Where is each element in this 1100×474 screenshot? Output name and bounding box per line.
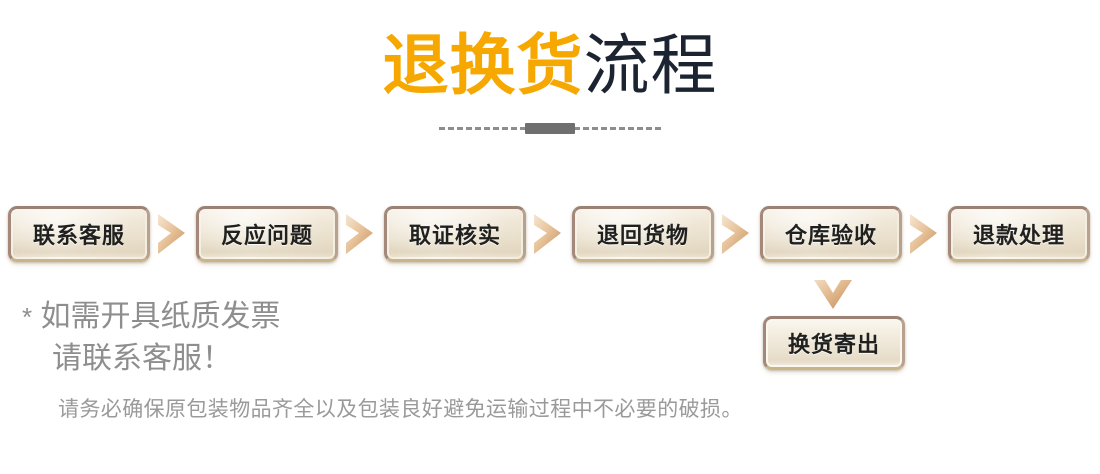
chevron-right-icon-2 xyxy=(338,211,384,257)
packaging-note: 请务必确保原包装物品齐全以及包装良好避免运输过程中不必要的破损。 xyxy=(58,395,1058,425)
flow-branch-box-exchange[interactable]: 换货寄出 xyxy=(763,316,905,370)
chevron-right-icon-4 xyxy=(714,211,760,257)
chevron-down-icon-branch xyxy=(812,278,854,314)
flow-step-box-1[interactable]: 联系客服 xyxy=(8,206,150,262)
flow-step-label-6: 退款处理 xyxy=(973,218,1065,250)
flow-branch-label-exchange: 换货寄出 xyxy=(788,327,880,359)
flow-steps-row: 联系客服 反应问题 xyxy=(8,203,1092,265)
flow-step-box-4[interactable]: 退回货物 xyxy=(572,206,714,262)
flow-step-label-2: 反应问题 xyxy=(221,218,313,250)
invoice-note-line-1: * 如需开具纸质发票 xyxy=(22,296,442,338)
chevron-right-icon-3 xyxy=(526,211,572,257)
flow-step-label-3: 取证核实 xyxy=(409,218,501,250)
page-title-accent: 退换货 xyxy=(383,28,584,102)
invoice-note-text-2: 请联系客服！ xyxy=(22,338,442,380)
flow-step-label-1: 联系客服 xyxy=(33,218,125,250)
invoice-note-text-1: 如需开具纸质发票 xyxy=(40,300,280,333)
flow-step-label-4: 退回货物 xyxy=(597,218,689,250)
title-divider xyxy=(0,122,1100,136)
flow-step-label-5: 仓库验收 xyxy=(785,218,877,250)
invoice-note: * 如需开具纸质发票 请联系客服！ xyxy=(22,296,442,380)
flow-step-box-3[interactable]: 取证核实 xyxy=(384,206,526,262)
divider-center-block xyxy=(525,123,575,134)
flow-step-box-5[interactable]: 仓库验收 xyxy=(760,206,902,262)
chevron-right-icon-5 xyxy=(902,211,948,257)
page-title: 退换货流程 xyxy=(0,26,1100,104)
chevron-right-icon-1 xyxy=(150,211,196,257)
page-title-rest: 流程 xyxy=(584,28,718,102)
flow-step-box-2[interactable]: 反应问题 xyxy=(196,206,338,262)
asterisk-icon: * xyxy=(22,302,32,332)
flow-step-box-6[interactable]: 退款处理 xyxy=(948,206,1090,262)
